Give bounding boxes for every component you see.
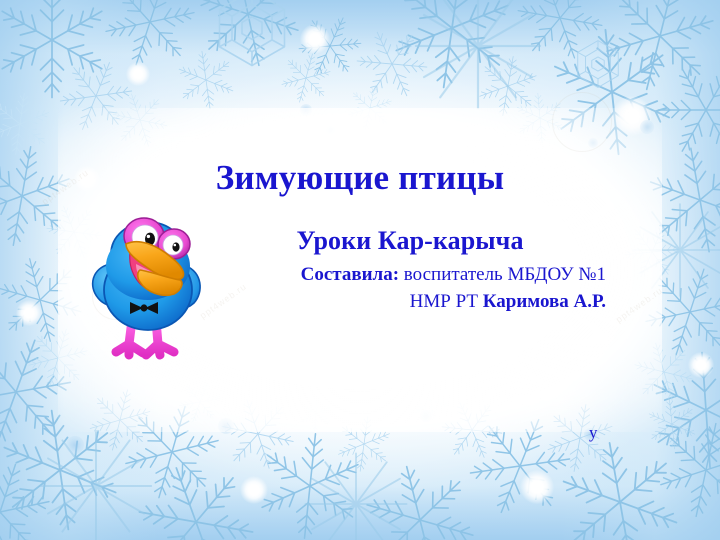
credit-value: воспитатель МБДОУ №1 [399, 264, 606, 285]
snow-bokeh-dot [326, 126, 335, 135]
presentation-slide: ppt4web.ru ppt4web.ru ppt4web.ru [0, 0, 720, 540]
subtitle-credit-block: Уроки Кар-карыча Составила: воспитатель … [214, 226, 606, 316]
kar-karych-bird-illustration [86, 208, 208, 360]
credit-line-1: Составила: воспитатель МБДОУ №1 [214, 262, 606, 289]
bird-pupil-right [172, 242, 179, 251]
subtitle: Уроки Кар-карыча [214, 226, 606, 256]
stray-letter: у [589, 424, 598, 441]
credit-label: Составила: [301, 264, 399, 285]
snow-bokeh-dot [300, 104, 312, 116]
page-title: Зимующие птицы [0, 160, 720, 195]
credit-region: НМР РТ [410, 291, 483, 312]
snow-bokeh-dot [420, 410, 432, 422]
snow-bokeh-dot [640, 120, 654, 134]
credit-author: Каримова А.Р. [483, 291, 606, 312]
credit-lines: Составила: воспитатель МБДОУ №1 НМР РТ К… [214, 262, 606, 316]
snow-bokeh-dot [588, 138, 598, 148]
snow-bokeh-dot [218, 418, 234, 434]
snow-bokeh-dot [66, 436, 84, 454]
credit-line-2: НМР РТ Каримова А.Р. [214, 289, 606, 316]
